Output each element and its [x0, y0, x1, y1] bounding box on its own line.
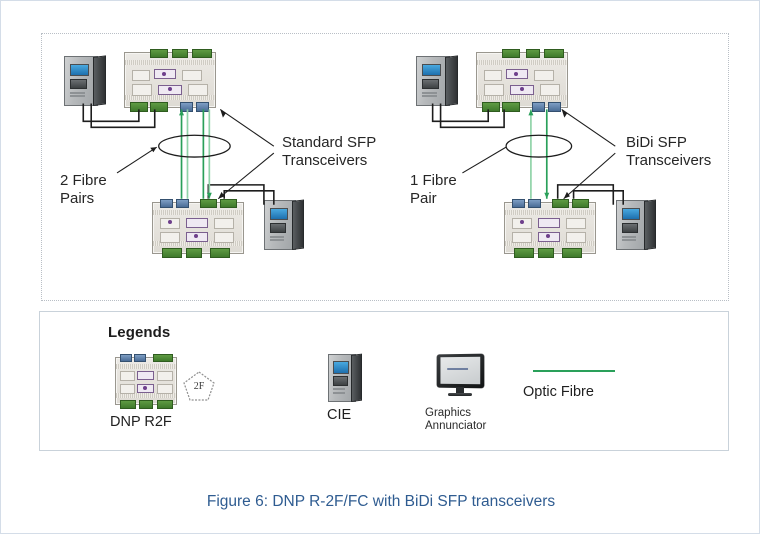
cie-screen — [422, 64, 441, 77]
cie-vent — [270, 236, 284, 238]
cie-vent — [70, 92, 85, 94]
dnp-terminal — [150, 102, 168, 112]
dnp-terminal — [526, 49, 540, 58]
cie-vent — [422, 95, 437, 97]
legend-monitor-icon — [436, 354, 484, 400]
dnp-chip — [484, 84, 504, 96]
cie-screen — [333, 361, 348, 373]
dnp-indicator — [143, 386, 147, 390]
dnp-chip — [214, 232, 234, 243]
dnp-terminal — [544, 49, 564, 58]
sfp-transceiver-port — [196, 102, 209, 112]
legend-label-cie: CIE — [327, 407, 351, 424]
cie-panel-icon — [64, 56, 106, 104]
dnp-chip — [120, 384, 135, 394]
cie-panel-icon — [416, 56, 458, 104]
sfp-transceiver-port — [120, 354, 132, 362]
dnp-indicator — [546, 234, 550, 238]
dnp-terminal — [502, 102, 520, 112]
dnp-terminal — [482, 102, 500, 112]
cie-screen — [270, 208, 288, 221]
bidi-sfp-transceiver-port — [532, 102, 545, 112]
dnp-terminal — [502, 49, 520, 58]
legend-cie-panel-icon — [328, 354, 362, 400]
dnp-terminal — [514, 248, 534, 258]
dnp-indicator — [514, 72, 518, 76]
dnp-rail-module-icon — [476, 52, 568, 108]
cie-screen — [622, 208, 640, 221]
cie-side — [351, 354, 362, 402]
dnp-indicator — [162, 72, 166, 76]
cie-vent — [270, 239, 284, 241]
dnp-indicator — [168, 220, 172, 224]
dnp-terminal — [186, 248, 202, 258]
dnp-terminal — [552, 199, 569, 208]
monitor-graphic — [448, 368, 468, 370]
cie-side — [93, 56, 106, 106]
dnp-indicator — [520, 220, 524, 224]
monitor-bezel — [437, 354, 485, 389]
right-transceiver-label: BiDi SFP Transceivers — [626, 134, 711, 169]
dnp-strip-top — [477, 60, 567, 65]
legend-panel: Legends 2F DNP R2F — [39, 311, 729, 451]
dnp-terminal — [139, 400, 153, 409]
legend-title: Legends — [108, 324, 170, 341]
legend-label-dnp-r2f: DNP R2F — [110, 414, 172, 431]
dnp-chip — [137, 371, 154, 380]
dnp-rail-module-icon — [504, 202, 596, 254]
cie-panel-icon — [264, 200, 304, 248]
dnp-strip-top — [153, 210, 243, 215]
sfp-transceiver-port — [160, 199, 173, 208]
dnp-chip — [132, 70, 150, 81]
bidi-sfp-transceiver-port — [512, 199, 525, 208]
cie-keypad — [422, 79, 439, 90]
dnp-chip — [120, 371, 135, 381]
dnp-strip-top — [505, 210, 595, 215]
dnp-terminal — [572, 199, 589, 208]
dnp-chip — [182, 70, 202, 81]
dnp-terminal — [157, 400, 173, 409]
cie-vent — [333, 388, 345, 390]
cie-panel-icon — [616, 200, 656, 248]
dnp-terminal — [162, 248, 182, 258]
dnp-2f-badge-icon: 2F — [182, 370, 216, 402]
cie-screen — [70, 64, 89, 77]
dnp-chip — [538, 218, 560, 228]
dnp-chip — [540, 84, 560, 96]
monitor-screen — [441, 357, 480, 385]
dnp-chip — [214, 218, 234, 229]
dnp-terminal — [220, 199, 237, 208]
dnp-terminal — [562, 248, 582, 258]
monitor-base — [448, 393, 473, 396]
dnp-terminal — [200, 199, 217, 208]
dnp-rail-module-icon — [124, 52, 216, 108]
dnp-chip — [534, 70, 554, 81]
dnp-rail-module-icon — [152, 202, 244, 254]
cie-vent — [622, 239, 636, 241]
diagram-panel: 2 Fibre Pairs Standard SFP Transceivers — [41, 33, 729, 301]
cie-vent — [333, 392, 345, 394]
optic-fibre-swatch — [533, 370, 615, 372]
dnp-chip — [157, 371, 173, 381]
cie-side — [445, 56, 458, 106]
figure-page: 2 Fibre Pairs Standard SFP Transceivers — [0, 0, 760, 534]
dnp-indicator — [194, 234, 198, 238]
dnp-chip — [566, 232, 586, 243]
dnp-strip-top — [125, 60, 215, 65]
figure-caption: Figure 6: DNP R-2F/FC with BiDi SFP tran… — [1, 493, 760, 511]
legend-label-graphics-annunciator: Graphics Annunciator — [425, 407, 486, 433]
dnp-chip — [186, 218, 208, 228]
dnp-terminal — [150, 49, 168, 58]
cie-keypad — [70, 79, 87, 90]
left-fibre-label: 2 Fibre Pairs — [60, 172, 107, 207]
cie-vent — [422, 92, 437, 94]
cie-side — [644, 200, 656, 250]
dnp-strip-top — [116, 364, 176, 369]
dnp-terminal — [192, 49, 212, 58]
dnp-2f-badge-text: 2F — [182, 381, 216, 392]
dnp-terminal — [153, 354, 173, 362]
dnp-chip — [484, 70, 502, 81]
cie-keypad — [333, 376, 347, 386]
dnp-chip — [188, 84, 208, 96]
dnp-chip — [132, 84, 152, 96]
sfp-transceiver-port — [176, 199, 189, 208]
sfp-transceiver-port — [134, 354, 146, 362]
dnp-chip — [157, 384, 173, 394]
dnp-indicator — [168, 87, 172, 91]
bidi-sfp-transceiver-port — [528, 199, 541, 208]
left-transceiver-label: Standard SFP Transceivers — [282, 134, 376, 169]
dnp-terminal — [120, 400, 136, 409]
dnp-chip — [566, 218, 586, 229]
cie-vent — [622, 236, 636, 238]
legend-label-optic-fibre: Optic Fibre — [523, 384, 594, 401]
cie-side — [292, 200, 304, 250]
legend-dnp-rail-module-icon — [115, 357, 177, 405]
dnp-terminal — [538, 248, 554, 258]
dnp-terminal — [172, 49, 188, 58]
bidi-sfp-transceiver-port — [548, 102, 561, 112]
cie-keypad — [622, 223, 639, 234]
dnp-indicator — [520, 87, 524, 91]
cie-keypad — [270, 223, 287, 234]
dnp-chip — [512, 232, 532, 243]
cie-vent — [70, 95, 85, 97]
dnp-chip — [160, 232, 180, 243]
right-fibre-label: 1 Fibre Pair — [410, 172, 457, 207]
dnp-terminal — [130, 102, 148, 112]
dnp-terminal — [210, 248, 230, 258]
sfp-transceiver-port — [180, 102, 193, 112]
